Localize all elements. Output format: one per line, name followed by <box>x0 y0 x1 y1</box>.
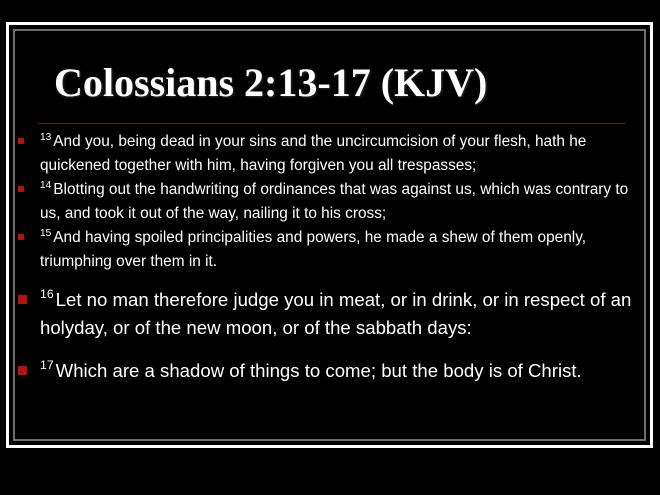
verse-number: 17 <box>40 358 56 372</box>
slide-title: Colossians 2:13-17 (KJV) <box>54 60 487 106</box>
verse-text-16: 16Let no man therefore judge you in meat… <box>40 286 642 343</box>
verse-item-13: 13And you, being dead in your sins and t… <box>14 130 642 177</box>
verse-item-17: 17Which are a shadow of things to come; … <box>14 357 642 386</box>
verse-item-14: 14Blotting out the handwriting of ordina… <box>14 178 642 225</box>
verse-item-15: 15And having spoiled principalities and … <box>14 226 642 273</box>
verse-text-13: 13And you, being dead in your sins and t… <box>40 130 642 177</box>
verse-body: Which are a shadow of things to come; bu… <box>56 360 582 381</box>
verse-number: 15 <box>40 228 53 239</box>
verse-number: 16 <box>40 287 56 301</box>
bullet-square-icon <box>18 186 24 192</box>
verse-text-17: 17Which are a shadow of things to come; … <box>40 357 642 386</box>
bullet-square-icon <box>18 295 27 304</box>
verse-body: Blotting out the handwriting of ordinanc… <box>40 181 628 222</box>
verse-list: 13And you, being dead in your sins and t… <box>14 130 642 385</box>
verse-body: And having spoiled principalities and po… <box>40 229 586 270</box>
verse-number: 14 <box>40 180 53 191</box>
verse-text-15: 15And having spoiled principalities and … <box>40 226 642 273</box>
slide: Colossians 2:13-17 (KJV) 13And you, bein… <box>0 0 660 495</box>
verse-body: Let no man therefore judge you in meat, … <box>40 289 631 339</box>
bullet-square-icon <box>18 234 24 240</box>
slide-content: Colossians 2:13-17 (KJV) 13And you, bein… <box>0 0 660 495</box>
verse-text-14: 14Blotting out the handwriting of ordina… <box>40 178 642 225</box>
bullet-square-icon <box>18 138 24 144</box>
bullet-square-icon <box>18 366 27 375</box>
verse-body: And you, being dead in your sins and the… <box>40 133 586 174</box>
verse-item-16: 16Let no man therefore judge you in meat… <box>14 286 642 343</box>
verse-number: 13 <box>40 132 53 143</box>
title-divider <box>38 123 626 124</box>
